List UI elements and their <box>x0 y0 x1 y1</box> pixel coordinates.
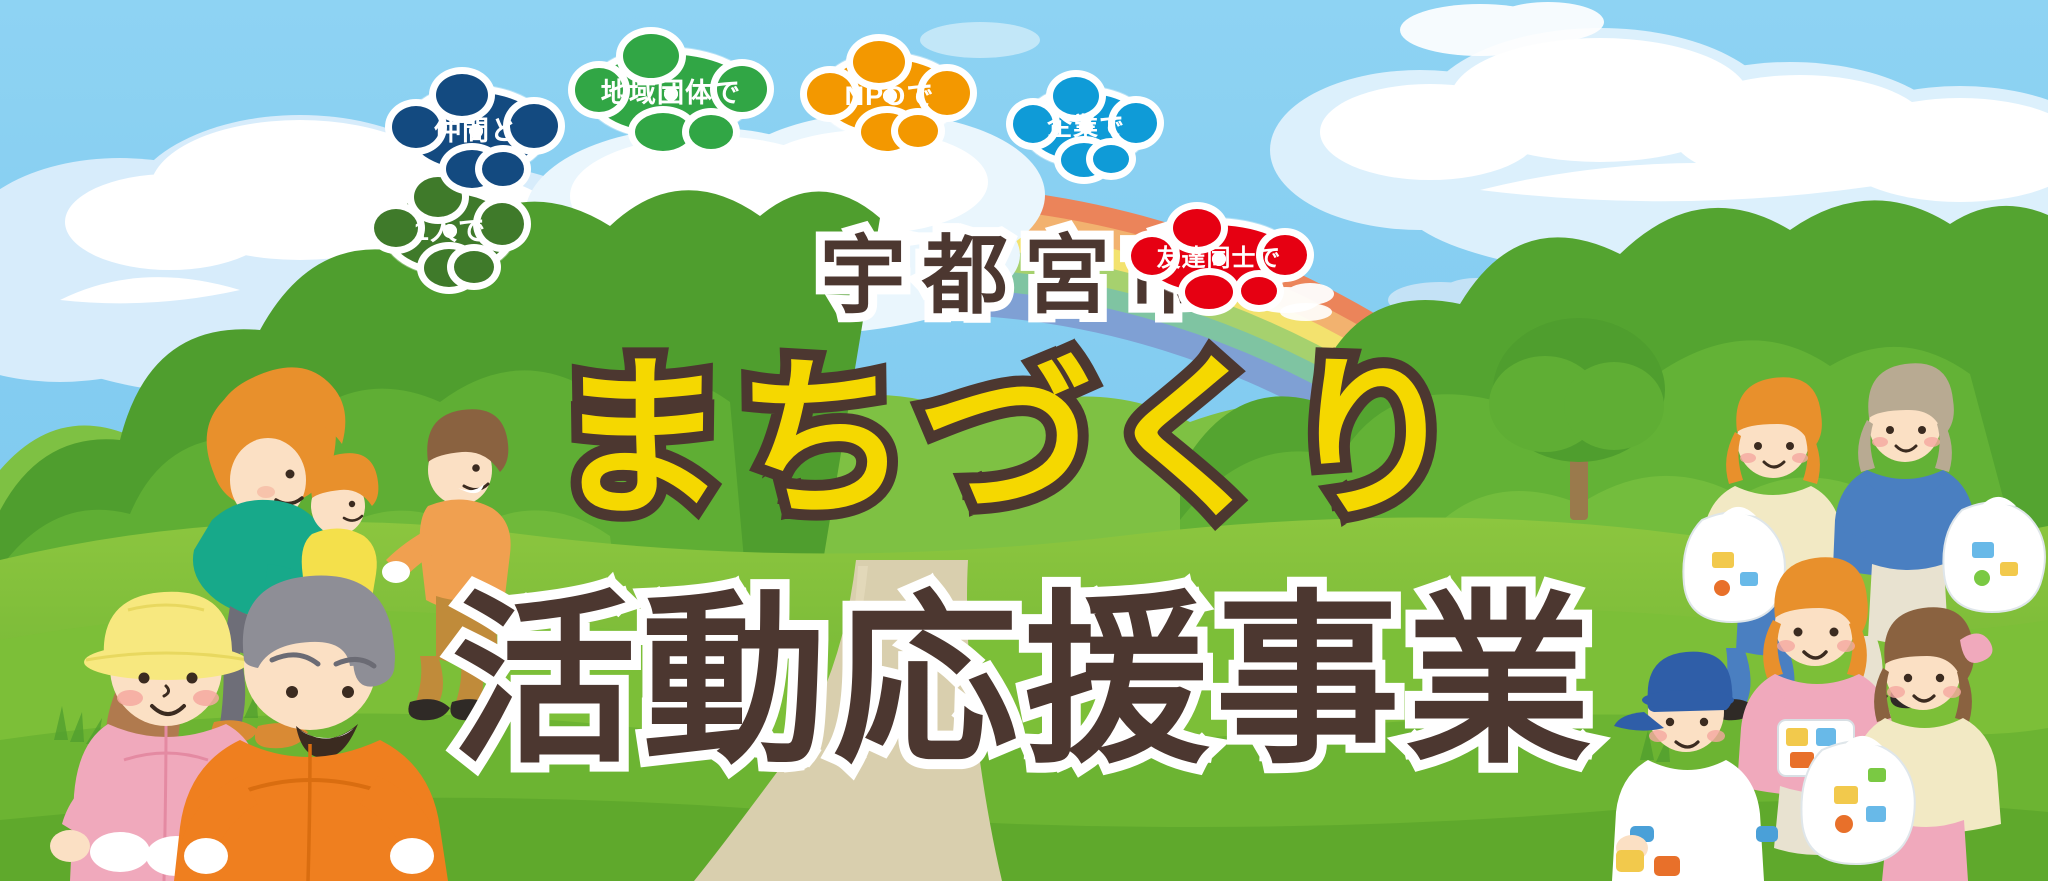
bubble-label: NPOで <box>845 82 935 110</box>
bubble-one-person[interactable]: 1人で <box>383 186 517 276</box>
cloud-float-lowleft <box>1280 303 1332 321</box>
bubble-label: 企業で <box>1047 114 1125 140</box>
bubble-community-group[interactable]: 地域団体で <box>586 47 756 140</box>
bubble-label: 仲間と <box>434 117 518 145</box>
bubble-friends-together[interactable]: 友達同士で <box>1140 218 1298 300</box>
bubble-label: 1人で <box>414 217 486 245</box>
bubble-label: 友達同士で <box>1157 246 1282 271</box>
bubble-company[interactable]: 企業で <box>1022 86 1150 168</box>
bubble-npo[interactable]: NPOで <box>818 52 961 140</box>
banner-root: 1人で 仲間と 地域団体で NPOで <box>0 0 2048 881</box>
bubble-with-friends[interactable]: 仲間と <box>403 85 549 177</box>
bubble-label: 地域団体で <box>601 79 741 107</box>
